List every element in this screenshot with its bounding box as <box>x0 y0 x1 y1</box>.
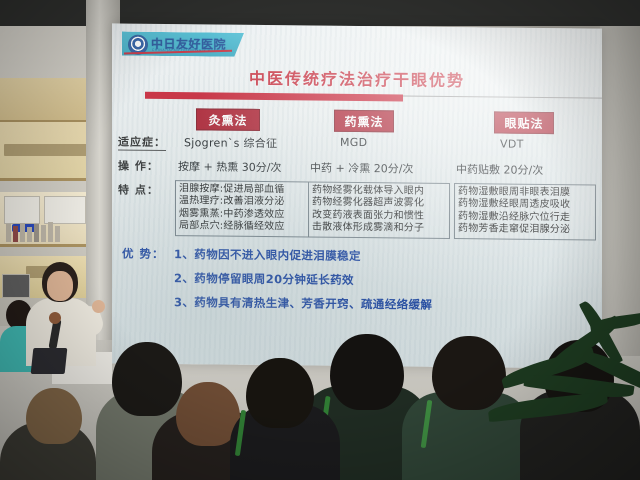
features-box-1: 泪腺按摩:促进局部血循 温热理疗:改善泪液分泌 烟雾熏蒸:中药渗透效应 局部点穴… <box>175 180 309 237</box>
projection-screen: 中日友好医院 CHINA-JAPAN FRIENDSHIP HOSPITAL 中… <box>112 23 602 368</box>
feature-item: 温热理疗:改善泪液分泌 <box>179 196 305 210</box>
features-box-2: 药物经雾化载体导入眼内 药物经雾化器超声波雾化 改变药液表面张力和惯性 击散液体… <box>308 181 450 238</box>
poster-right <box>44 196 86 224</box>
feature-item: 药物经雾化器超声波雾化 <box>312 197 446 211</box>
feature-item: 药物湿敷经眼周透皮吸收 <box>458 198 592 212</box>
booth-shelf-top <box>0 78 90 120</box>
presenter-face <box>47 271 73 301</box>
column-header-1: 灸熏法 <box>196 108 260 131</box>
row-label-features: 特 点： <box>118 181 159 197</box>
presenter <box>18 262 104 366</box>
advantages-label: 优 势： <box>122 246 165 262</box>
book-row <box>6 222 60 242</box>
laptop <box>31 348 68 374</box>
poster-left <box>4 196 40 224</box>
indication-col-2: MGD <box>340 136 367 149</box>
presenter-hand <box>92 300 105 313</box>
booth-sign-text <box>4 144 88 156</box>
operation-col-3: 中药贴敷 20分/次 <box>456 161 543 178</box>
features-box-3: 药物湿敷眼周非眼表泪膜 药物湿敷经眼周透皮吸收 药物湿敷沿经脉穴位行走 药物芳香… <box>454 183 596 240</box>
advantage-item-2: 2、药物停留眼周20分钟延长药效 <box>174 270 354 288</box>
advantage-item-3: 3、药物具有清热生津、芳香开窍、疏通经络缓解 <box>174 294 432 313</box>
slide-content: 中日友好医院 CHINA-JAPAN FRIENDSHIP HOSPITAL 中… <box>112 23 602 368</box>
column-header-2: 药熏法 <box>334 110 394 133</box>
column-header-3: 眼贴法 <box>494 111 554 134</box>
booth-shelf-sign <box>0 122 90 178</box>
shelf-divider <box>0 178 90 181</box>
right-wall <box>600 26 640 356</box>
title-accent-bar <box>145 92 403 102</box>
row-label-indication: 适应症： <box>118 133 166 151</box>
microphone-head <box>49 312 61 324</box>
shelf-divider <box>0 244 90 247</box>
advantage-item-1: 1、药物因不进入眼内促进泪膜稳定 <box>174 246 361 264</box>
feature-item: 局部点穴:经脉循经效应 <box>179 220 305 234</box>
feature-item: 击散液体形成雾滴和分子 <box>312 222 446 236</box>
indication-col-1: Sjogren`s 综合征 <box>184 134 277 151</box>
row-label-operation: 操 作： <box>118 157 159 173</box>
presentation-photo-scene: 中日友好医院 CHINA-JAPAN FRIENDSHIP HOSPITAL 中… <box>0 0 640 480</box>
operation-col-2: 中药 + 冷熏 20分/次 <box>310 160 413 177</box>
indication-col-3: VDT <box>500 137 524 150</box>
operation-col-1: 按摩 + 热熏 30分/次 <box>178 158 281 175</box>
feature-item: 药物芳香走窜促泪腺分泌 <box>458 223 592 237</box>
slide-title: 中医传统疗法治疗干眼优势 <box>112 63 602 92</box>
hospital-logo: 中日友好医院 CHINA-JAPAN FRIENDSHIP HOSPITAL <box>122 32 244 59</box>
title-thin-line <box>403 95 602 98</box>
